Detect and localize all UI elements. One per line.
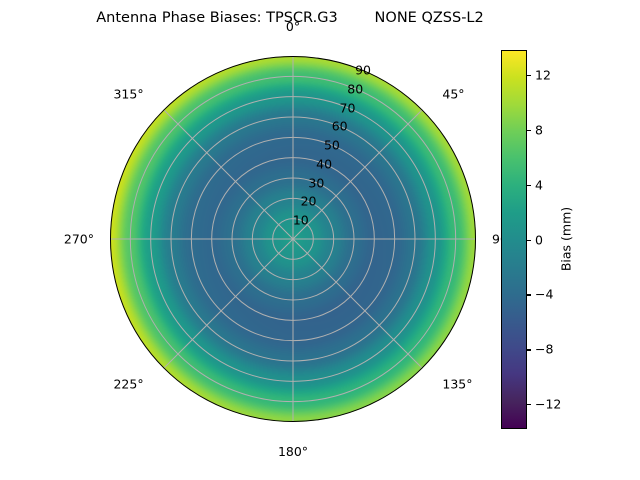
- theta-tick-label-270: 270°: [64, 232, 94, 247]
- r-tick-label-20: 20: [301, 194, 317, 209]
- colorbar-gradient: [501, 50, 527, 429]
- colorbar[interactable]: [501, 50, 527, 429]
- r-tick-label-60: 60: [332, 119, 348, 134]
- r-tick-label-30: 30: [308, 175, 324, 190]
- colorbar-tick-label: 4: [535, 177, 543, 192]
- theta-tick-label-180: 180°: [278, 444, 308, 459]
- colorbar-tick-label: 12: [535, 67, 551, 82]
- r-tick-label-10: 10: [293, 213, 309, 228]
- r-tick-label-70: 70: [340, 100, 356, 115]
- colorbar-tick-mark: [527, 349, 531, 350]
- theta-tick-label-135: 135°: [442, 377, 472, 392]
- colorbar-tick-mark: [527, 130, 531, 131]
- colorbar-tick-mark: [527, 240, 531, 241]
- colorbar-tick-label: −12: [535, 397, 561, 412]
- figure-canvas: Antenna Phase Biases: TPSCR.G3 NONE QZSS…: [0, 0, 640, 480]
- polar-axes: [110, 56, 476, 422]
- theta-tick-label-315: 315°: [113, 86, 143, 101]
- colorbar-tick-mark: [527, 294, 531, 295]
- colorbar-tick-label: −4: [535, 287, 553, 302]
- r-tick-label-90: 90: [355, 62, 371, 77]
- theta-tick-label-45: 45°: [442, 86, 464, 101]
- colorbar-tick-mark: [527, 185, 531, 186]
- r-tick-label-80: 80: [347, 81, 363, 96]
- colorbar-tick-label: 0: [535, 232, 543, 247]
- polar-heatmap: [110, 56, 476, 422]
- colorbar-tick-mark: [527, 404, 531, 405]
- colorbar-tick-label: 8: [535, 122, 543, 137]
- r-tick-label-50: 50: [324, 138, 340, 153]
- colorbar-tick-label: −8: [535, 342, 553, 357]
- colorbar-axis-label: Bias (mm): [559, 207, 574, 271]
- r-tick-label-40: 40: [316, 156, 332, 171]
- colorbar-tick-mark: [527, 75, 531, 76]
- theta-tick-label-225: 225°: [113, 377, 143, 392]
- theta-tick-label-0: 0°: [286, 19, 300, 34]
